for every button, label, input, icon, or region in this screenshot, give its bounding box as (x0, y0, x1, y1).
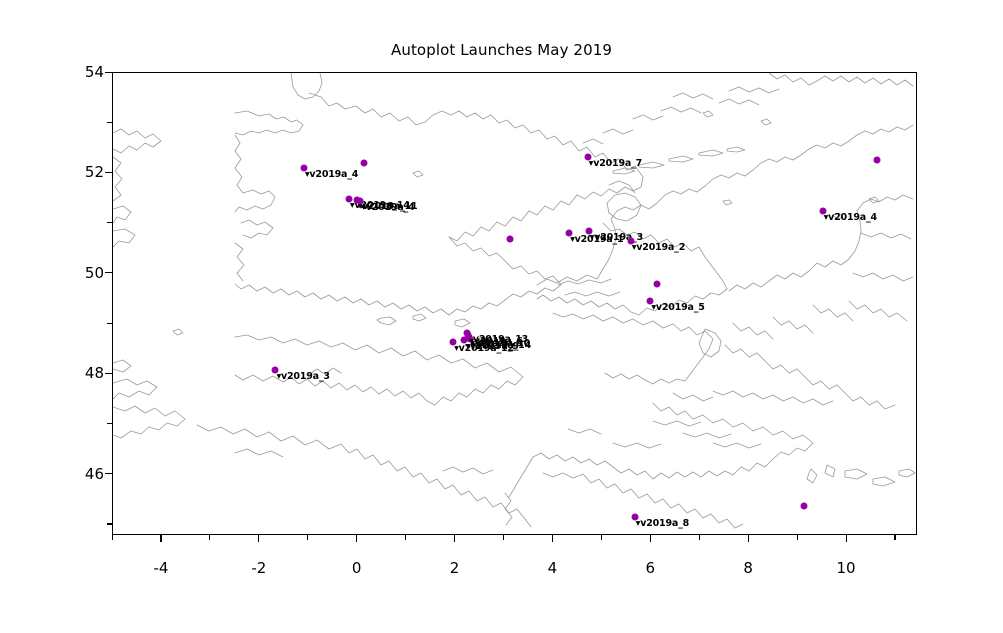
axis-tick (307, 535, 308, 540)
scatter-point[interactable] (360, 160, 367, 167)
axis-tick (601, 535, 602, 540)
axis-tick (454, 535, 455, 542)
axis-tick (107, 122, 112, 123)
axis-tick-label: 8 (743, 559, 753, 577)
scatter-point-label: ▾v2019a_8 (636, 518, 689, 529)
axis-tick (552, 535, 553, 542)
scatter-point-label: ▾v2019a_4 (824, 212, 877, 223)
scatter-point[interactable] (654, 280, 661, 287)
scatter-point-label: ▾v2019a_4 (361, 202, 414, 213)
axis-tick-label: 6 (646, 559, 656, 577)
axis-tick (105, 272, 112, 273)
axis-tick (105, 72, 112, 73)
axis-tick (699, 535, 700, 540)
axis-tick (894, 535, 895, 540)
axis-tick (258, 535, 259, 542)
axis-tick (105, 373, 112, 374)
figure-canvas: Autoplot Launches May 2019 (0, 0, 1003, 633)
axis-tick-label: 48 (68, 364, 104, 382)
axis-tick (105, 172, 112, 173)
axis-tick (105, 473, 112, 474)
axis-tick (503, 535, 504, 540)
scatter-point-label: ▾v2019a_5 (651, 302, 704, 313)
axis-tick-label: -4 (153, 559, 168, 577)
basemap-coastlines (113, 73, 917, 535)
axis-tick (650, 535, 651, 542)
axis-tick (748, 535, 749, 542)
axis-tick (797, 535, 798, 540)
axis-tick-label: 4 (548, 559, 558, 577)
axis-tick (356, 535, 357, 542)
axis-tick (160, 535, 161, 542)
scatter-point[interactable] (874, 157, 881, 164)
axis-tick-label: 46 (68, 465, 104, 483)
axis-tick-label: 50 (68, 264, 104, 282)
chart-title: Autoplot Launches May 2019 (0, 41, 1003, 59)
axis-tick-label: -2 (251, 559, 266, 577)
scatter-point[interactable] (507, 235, 514, 242)
axis-tick (209, 535, 210, 540)
scatter-point-label: ▾v2019a_2 (632, 242, 685, 253)
axis-tick (107, 222, 112, 223)
axis-tick (107, 523, 112, 524)
scatter-point-label: ▾v2019a_4 (305, 169, 358, 180)
axis-tick (846, 535, 847, 542)
axis-tick-label: 10 (836, 559, 855, 577)
scatter-point-label: ▾v2019a_7 (589, 158, 642, 169)
axis-tick (107, 423, 112, 424)
axis-tick-label: 52 (68, 163, 104, 181)
axis-tick-label: 0 (352, 559, 362, 577)
axis-tick (107, 323, 112, 324)
axis-tick (405, 535, 406, 540)
scatter-point-label: ▾v2019a_3 (276, 371, 329, 382)
map-axes[interactable]: ▾v2019a_4▾v2019a_14▾v2019a_11▾v2019a_4▾v… (112, 72, 917, 535)
axis-tick-label: 54 (68, 63, 104, 81)
scatter-point[interactable] (800, 502, 807, 509)
axis-tick-label: 2 (450, 559, 460, 577)
axis-tick (112, 535, 113, 540)
scatter-point-label: ▾v2019a_9 (465, 341, 518, 352)
